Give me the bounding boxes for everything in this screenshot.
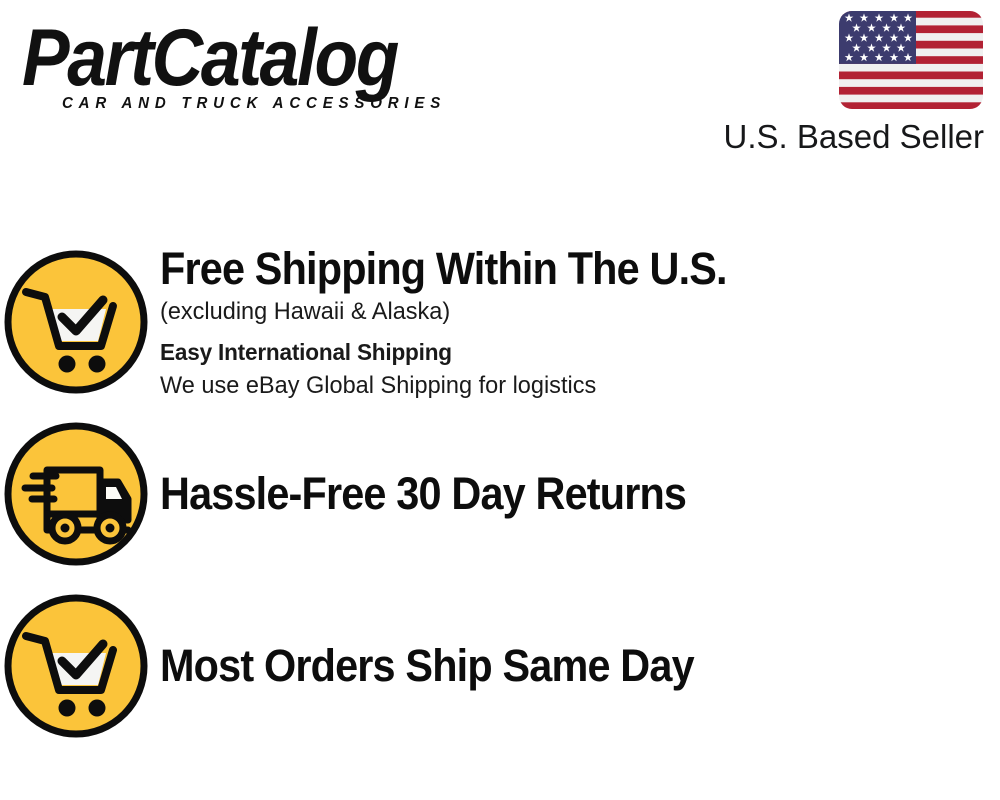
feature-row: Most Orders Ship Same Day <box>0 580 1000 752</box>
us-based-seller-badge: U.S. Based Seller <box>714 10 984 156</box>
delivery-truck-icon <box>2 420 150 568</box>
feature-text-block: Hassle-Free 30 Day Returns <box>152 468 1000 520</box>
shopping-cart-check-icon <box>2 592 150 740</box>
brand-wordmark: PartCatalog <box>22 18 464 99</box>
feature-text-block: Most Orders Ship Same Day <box>152 640 1000 692</box>
feature-icon-wrap <box>0 592 152 740</box>
brand-logo[interactable]: PartCatalog CAR AND TRUCK ACCESSORIES <box>22 18 492 118</box>
feature-subtitle-logistics: We use eBay Global Shipping for logistic… <box>160 369 966 402</box>
brand-tagline: CAR AND TRUCK ACCESSORIES <box>62 95 479 113</box>
feature-title: Hassle-Free 30 Day Returns <box>160 468 933 520</box>
feature-row: Free Shipping Within The U.S. (excluding… <box>0 236 1000 408</box>
promo-banner: PartCatalog CAR AND TRUCK ACCESSORIES <box>0 0 1000 800</box>
feature-list: Free Shipping Within The U.S. (excluding… <box>0 236 1000 752</box>
us-based-seller-label: U.S. Based Seller <box>714 118 984 156</box>
feature-subtitle-international: Easy International Shipping <box>160 336 966 369</box>
feature-icon-wrap <box>0 248 152 396</box>
shopping-cart-check-icon <box>2 248 150 396</box>
us-flag-icon <box>838 10 984 110</box>
feature-title: Most Orders Ship Same Day <box>160 640 933 692</box>
feature-text-block: Free Shipping Within The U.S. (excluding… <box>152 243 1000 402</box>
feature-icon-wrap <box>0 420 152 568</box>
feature-title: Free Shipping Within The U.S. <box>160 243 933 295</box>
feature-subtitle-exclusion: (excluding Hawaii & Alaska) <box>160 295 966 328</box>
feature-row: Hassle-Free 30 Day Returns <box>0 408 1000 580</box>
